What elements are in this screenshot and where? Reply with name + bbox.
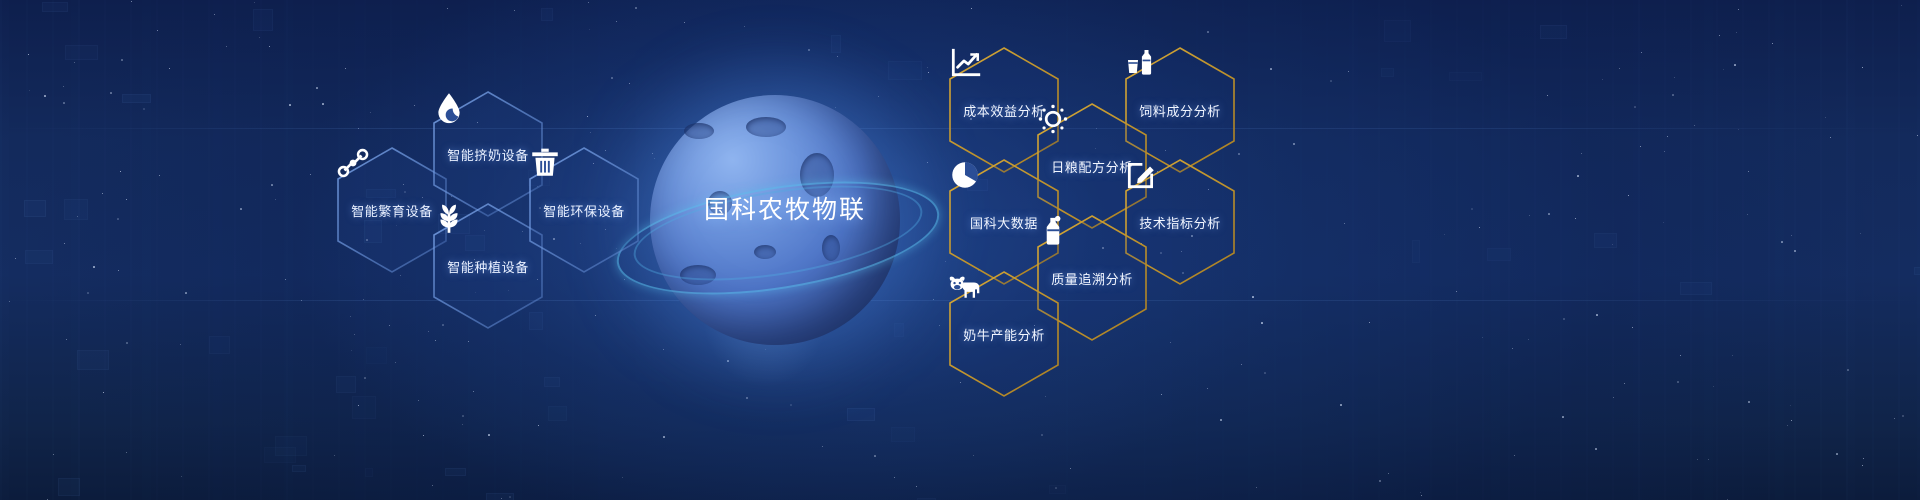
hex-label: 成本效益分析 bbox=[963, 101, 1045, 120]
hex-label: 质量追溯分析 bbox=[1051, 269, 1133, 288]
hex-label: 智能环保设备 bbox=[543, 201, 625, 220]
pie-chart-icon bbox=[948, 158, 982, 192]
cow-icon bbox=[948, 270, 982, 304]
hex-smart-environment[interactable]: 智能环保设备 bbox=[528, 146, 640, 274]
edit-pencil-icon bbox=[1124, 158, 1158, 192]
hex-label: 智能种植设备 bbox=[447, 257, 529, 276]
hex-label: 智能繁育设备 bbox=[351, 201, 433, 220]
hex-label: 奶牛产能分析 bbox=[963, 325, 1045, 344]
hex-label: 日粮配方分析 bbox=[1051, 157, 1133, 176]
node-network-icon bbox=[336, 146, 370, 180]
hex-cow-capacity-analysis[interactable]: 奶牛产能分析 bbox=[948, 270, 1060, 398]
page-title: 国科农牧物联 bbox=[660, 190, 910, 226]
sun-icon bbox=[1036, 102, 1070, 136]
milk-bottle-icon bbox=[1036, 214, 1070, 248]
hex-label: 饲料成分分析 bbox=[1139, 101, 1221, 120]
planet-group: 国科农牧物联 bbox=[650, 95, 940, 385]
line-chart-icon bbox=[948, 46, 982, 80]
hex-label: 智能挤奶设备 bbox=[447, 145, 529, 164]
milk-bottle-glass-icon bbox=[1124, 46, 1158, 80]
plant-leaf-icon bbox=[432, 202, 466, 236]
trash-bin-icon bbox=[528, 146, 562, 180]
iot-hero-banner: 国科农牧物联 智能繁育设备 智 bbox=[0, 0, 1920, 500]
hex-label: 国科大数据 bbox=[970, 213, 1038, 232]
water-drop-icon bbox=[432, 90, 466, 124]
hex-label: 技术指标分析 bbox=[1139, 213, 1221, 232]
